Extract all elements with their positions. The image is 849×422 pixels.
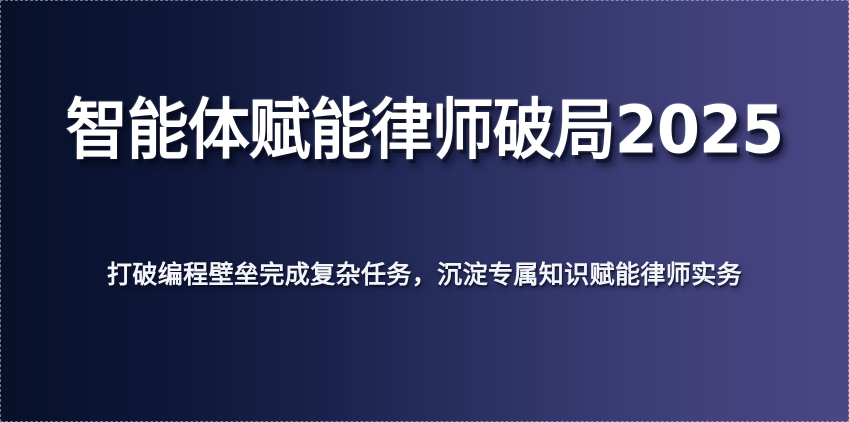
slide-title: 智能体赋能律师破局2025 [66,97,784,163]
slide-title-block: 智能体赋能律师破局2025 [0,84,849,176]
slide-border-frame [0,0,849,422]
presentation-slide: 智能体赋能律师破局2025 打破编程壁垒完成复杂任务，沉淀专属知识赋能律师实务 [0,0,849,422]
slide-subtitle-block: 打破编程壁垒完成复杂任务，沉淀专属知识赋能律师实务 [0,252,849,296]
slide-subtitle: 打破编程壁垒完成复杂任务，沉淀专属知识赋能律师实务 [107,262,742,287]
